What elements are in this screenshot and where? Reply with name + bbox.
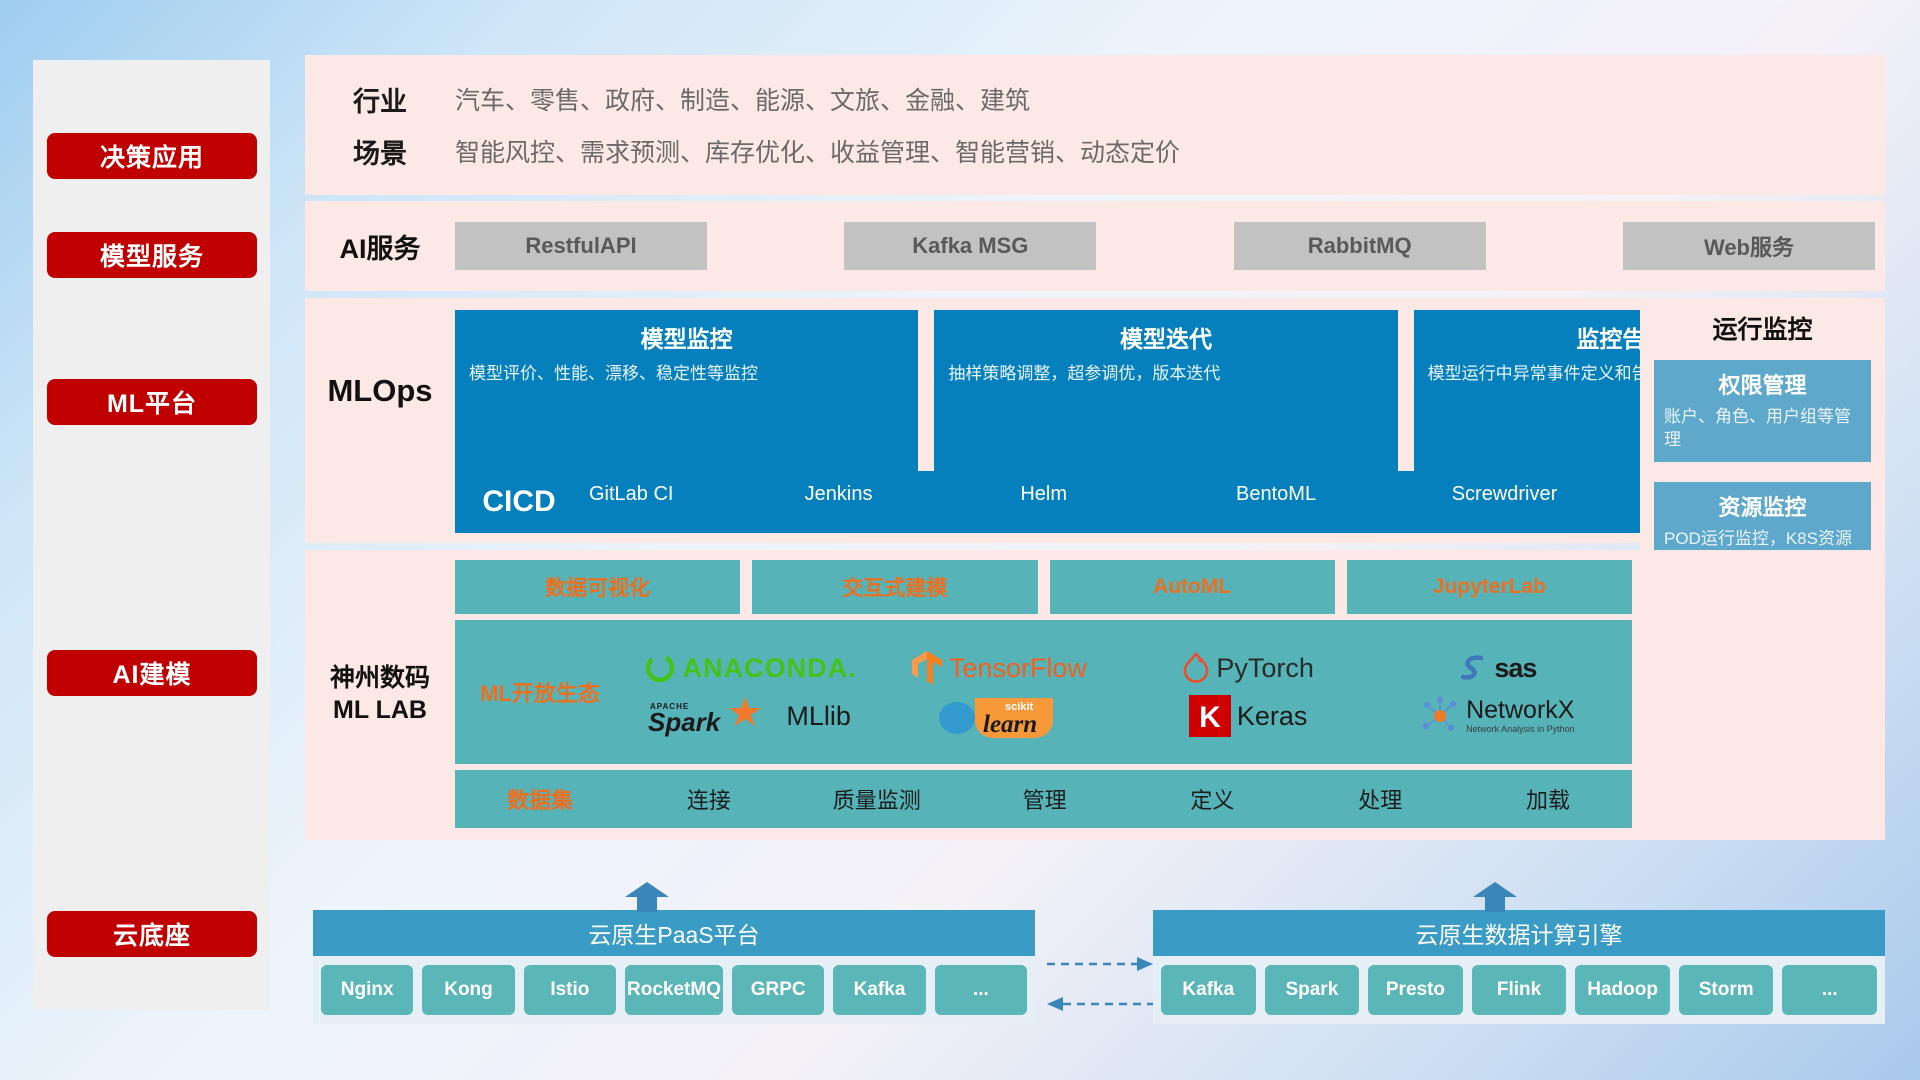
pytorch-label: PyTorch — [1216, 653, 1314, 684]
paas-chip-list: Nginx Kong Istio RocketMQ GRPC Kafka ... — [313, 956, 1035, 1024]
engine-chip-list: Kafka Spark Presto Flink Hadoop Storm ..… — [1153, 956, 1885, 1024]
engine-chip[interactable]: Presto — [1368, 965, 1463, 1015]
scikit-learn-logo: scikit learn — [935, 692, 1063, 740]
industry-row: 行业 汽车、零售、政府、制造、能源、文旅、金融、建筑 — [305, 73, 1885, 125]
tool-chip-dataviz[interactable]: 数据可视化 — [455, 560, 740, 614]
modeling-label-line1: 神州数码 — [330, 662, 430, 695]
dataset-item[interactable]: 管理 — [961, 783, 1129, 815]
anaconda-icon — [643, 651, 677, 685]
keras-logo: K Keras — [1189, 695, 1308, 737]
tool-chip-jupyter[interactable]: JupyterLab — [1347, 560, 1632, 614]
ai-service-band: AI服务 RestfulAPI Kafka MSG RabbitMQ Web服务 — [305, 201, 1885, 291]
scenario-label: 场景 — [305, 132, 455, 171]
modeling-left: 神州数码 ML LAB 数据可视化 交互式建模 AutoML JupyterLa… — [305, 550, 1640, 840]
eco-logo-grid: ANACONDA. TensorFlow — [625, 644, 1632, 740]
paas-chip[interactable]: Kong — [422, 965, 514, 1015]
modeling-tool-row: 数据可视化 交互式建模 AutoML JupyterLab — [455, 560, 1632, 614]
tool-chip-interactive[interactable]: 交互式建模 — [752, 560, 1037, 614]
dataset-row: 数据集 连接 质量监测 管理 定义 处理 加载 — [455, 770, 1632, 828]
dataset-item[interactable]: 处理 — [1296, 783, 1464, 815]
industry-value: 汽车、零售、政府、制造、能源、文旅、金融、建筑 — [455, 81, 1030, 117]
modeling-band: 神州数码 ML LAB 数据可视化 交互式建模 AutoML JupyterLa… — [305, 550, 1885, 840]
mlops-card-model-monitoring[interactable]: 模型监控 模型评价、性能、漂移、稳定性等监控 — [455, 310, 918, 471]
ai-service-label: AI服务 — [305, 227, 455, 266]
dataset-item[interactable]: 加载 — [1464, 783, 1632, 815]
cicd-item[interactable]: BentoML — [1230, 483, 1446, 506]
ai-service-chip-list: RestfulAPI Kafka MSG RabbitMQ Web服务 — [455, 222, 1885, 270]
mllib-label: MLlib — [786, 701, 851, 732]
engine-block: 云原生数据计算引擎 Kafka Spark Presto Flink Hadoo… — [1153, 910, 1885, 1024]
sas-icon — [1458, 652, 1488, 684]
rail-pill-label: 云底座 — [113, 916, 191, 952]
industry-label: 行业 — [305, 80, 455, 119]
card-desc: 模型评价、性能、漂移、稳定性等监控 — [469, 362, 904, 385]
modeling-stack: 数据可视化 交互式建模 AutoML JupyterLab ML开放生态 ANA… — [455, 560, 1632, 828]
sas-label: sas — [1494, 653, 1536, 684]
connector-arrows — [1045, 954, 1155, 1016]
cicd-item[interactable]: Helm — [1014, 483, 1230, 506]
monitor-title: 运行监控 — [1654, 310, 1871, 346]
cicd-item[interactable]: GitLab CI — [583, 483, 799, 506]
ai-service-chip[interactable]: Web服务 — [1623, 222, 1875, 270]
ai-service-chip[interactable]: Kafka MSG — [844, 222, 1096, 270]
anaconda-logo: ANACONDA. — [643, 651, 857, 685]
rail-pill-ml-platform[interactable]: ML平台 — [47, 379, 257, 425]
mlops-label: MLOps — [305, 310, 455, 471]
scenario-row: 场景 智能风控、需求预测、库存优化、收益管理、智能营销、动态定价 — [305, 125, 1885, 177]
mlops-card-model-iteration[interactable]: 模型迭代 抽样策略调整，超参调优，版本迭代 — [934, 310, 1397, 471]
engine-title: 云原生数据计算引擎 — [1153, 910, 1885, 956]
networkx-label: NetworkX — [1466, 698, 1575, 723]
spark-icon: APACHE Spark — [648, 695, 780, 737]
paas-chip[interactable]: Kafka — [833, 965, 925, 1015]
engine-chip[interactable]: Kafka — [1161, 965, 1256, 1015]
rail-pill-cloud-base[interactable]: 云底座 — [47, 911, 257, 957]
networkx-logo: NetworkX Network Analysis in Python — [1420, 696, 1575, 736]
svg-text:K: K — [1199, 701, 1221, 734]
tool-chip-automl[interactable]: AutoML — [1050, 560, 1335, 614]
svg-text:Spark: Spark — [648, 707, 722, 737]
paas-block: 云原生PaaS平台 Nginx Kong Istio RocketMQ GRPC… — [313, 910, 1035, 1024]
layer-rail: 决策应用 模型服务 ML平台 AI建模 云底座 — [33, 60, 270, 1010]
paas-chip[interactable]: GRPC — [732, 965, 824, 1015]
cicd-title: CICD — [455, 485, 583, 519]
cloud-base-section: 云原生PaaS平台 Nginx Kong Istio RocketMQ GRPC… — [305, 890, 1885, 1030]
industry-band: 行业 汽车、零售、政府、制造、能源、文旅、金融、建筑 场景 智能风控、需求预测、… — [305, 55, 1885, 195]
networkx-icon — [1420, 696, 1460, 736]
sas-logo: sas — [1458, 652, 1536, 684]
ai-service-chip[interactable]: RabbitMQ — [1234, 222, 1486, 270]
mlops-band: MLOps 模型监控 模型评价、性能、漂移、稳定性等监控 模型迭代 抽样策略调整… — [305, 298, 1885, 543]
eco-label: ML开放生态 — [455, 676, 625, 708]
spark-mllib-logo: APACHE Spark MLlib — [648, 695, 851, 737]
paas-title: 云原生PaaS平台 — [313, 910, 1035, 956]
monitor-card-permission[interactable]: 权限管理 账户、角色、用户组等管理 — [1654, 360, 1871, 462]
card-title: 权限管理 — [1664, 368, 1861, 400]
tensorflow-logo: TensorFlow — [911, 650, 1087, 686]
rail-pill-label: AI建模 — [112, 655, 191, 691]
engine-chip[interactable]: Storm — [1679, 965, 1774, 1015]
tensorflow-label: TensorFlow — [949, 653, 1087, 684]
rail-pill-label: 模型服务 — [100, 237, 204, 273]
tensorflow-icon — [911, 650, 943, 686]
engine-chip[interactable]: ... — [1782, 965, 1877, 1015]
pytorch-logo: PyTorch — [1182, 652, 1314, 684]
engine-chip[interactable]: Spark — [1265, 965, 1360, 1015]
modeling-label-line2: ML LAB — [333, 694, 427, 727]
scikit-learn-icon: scikit learn — [971, 692, 1063, 740]
paas-chip[interactable]: Nginx — [321, 965, 413, 1015]
up-arrow-icon — [625, 882, 669, 912]
rail-pill-model-serving[interactable]: 模型服务 — [47, 232, 257, 278]
card-desc: 账户、角色、用户组等管理 — [1664, 406, 1861, 452]
dataset-item[interactable]: 连接 — [625, 783, 793, 815]
up-arrow-icon — [1473, 882, 1517, 912]
rail-pill-ai-modeling[interactable]: AI建模 — [47, 650, 257, 696]
card-desc: 抽样策略调整，超参调优，版本迭代 — [948, 362, 1383, 385]
engine-chip[interactable]: Hadoop — [1575, 965, 1670, 1015]
engine-chip[interactable]: Flink — [1472, 965, 1567, 1015]
dataset-label: 数据集 — [455, 783, 625, 815]
card-title: 资源监控 — [1664, 490, 1861, 522]
dataset-item[interactable]: 质量监测 — [793, 783, 961, 815]
rail-pill-decision[interactable]: 决策应用 — [47, 133, 257, 179]
pytorch-icon — [1182, 652, 1210, 684]
keras-label: Keras — [1237, 701, 1308, 732]
card-title: 模型迭代 — [948, 320, 1383, 354]
anaconda-label: ANACONDA. — [683, 653, 857, 684]
ai-service-chip[interactable]: RestfulAPI — [455, 222, 707, 270]
architecture-main: 行业 汽车、零售、政府、制造、能源、文旅、金融、建筑 场景 智能风控、需求预测、… — [305, 55, 1885, 840]
svg-text:learn: learn — [983, 711, 1037, 738]
modeling-label: 神州数码 ML LAB — [305, 560, 455, 828]
networkx-tagline: Network Analysis in Python — [1466, 725, 1575, 734]
cicd-item[interactable]: Screwdriver — [1446, 483, 1662, 506]
eco-row: ML开放生态 ANACONDA. — [455, 620, 1632, 764]
rail-pill-label: 决策应用 — [100, 138, 204, 174]
rail-pill-label: ML平台 — [107, 384, 197, 420]
paas-chip[interactable]: RocketMQ — [625, 965, 723, 1015]
paas-chip[interactable]: Istio — [524, 965, 616, 1015]
keras-icon: K — [1189, 695, 1231, 737]
cicd-item[interactable]: Jenkins — [799, 483, 1015, 506]
card-title: 模型监控 — [469, 320, 904, 354]
paas-chip[interactable]: ... — [935, 965, 1027, 1015]
dataset-item[interactable]: 定义 — [1128, 783, 1296, 815]
scenario-value: 智能风控、需求预测、库存优化、收益管理、智能营销、动态定价 — [455, 133, 1180, 169]
